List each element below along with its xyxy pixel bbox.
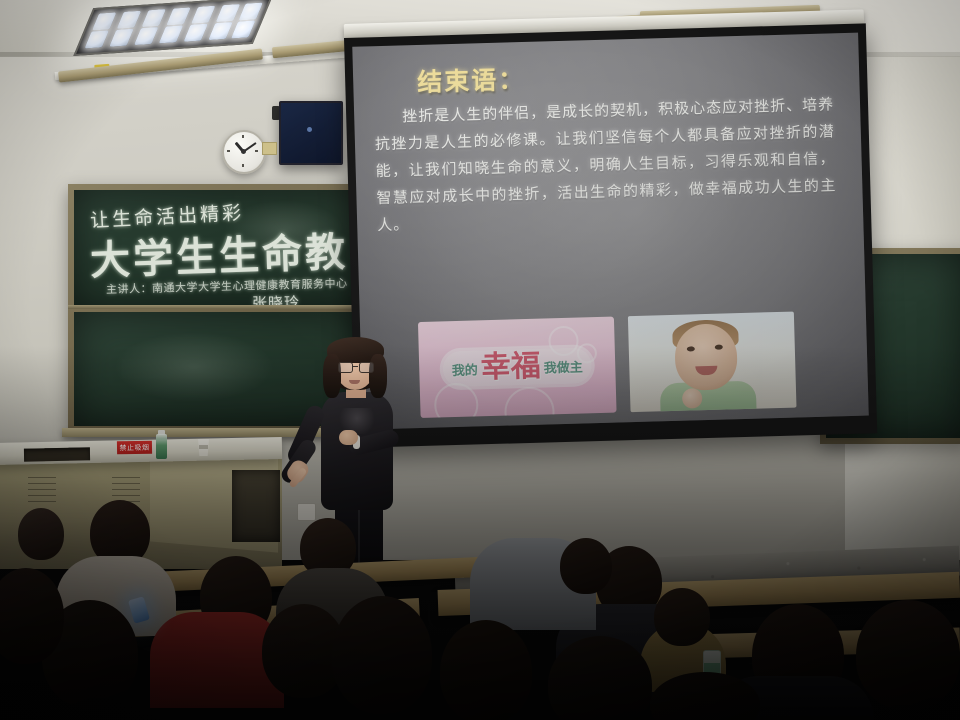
happiness-text-right: 我做主	[543, 356, 583, 376]
desk-cavity	[232, 470, 280, 542]
happiness-graphic: 我的 幸福 我做主	[418, 317, 617, 418]
wall-clock	[222, 130, 266, 174]
slide-body-text: 挫折是人生的伴侣，是成长的契机，积极心态应对挫折、培养抗挫力是人生的必修课。让我…	[374, 91, 838, 239]
blackboard-divider	[68, 305, 368, 309]
water-bottle-podium	[156, 430, 167, 459]
happiness-badge: 我的 幸福 我做主	[442, 347, 592, 387]
presenter-raised-hand	[284, 457, 311, 485]
pointing-finger-icon	[288, 467, 307, 489]
no-smoking-sign-label: 禁止吸烟	[117, 441, 152, 455]
projector-screen: 结束语： 挫折是人生的伴侣，是成长的契机，积极心态应对挫折、培养抗挫力是人生的必…	[344, 23, 877, 447]
happiness-text-big: 幸福	[480, 352, 541, 384]
audience-head	[654, 588, 710, 646]
slide-title: 结束语：	[417, 60, 526, 99]
audience-head	[856, 600, 960, 710]
projected-slide: 结束语： 挫折是人生的伴侣，是成长的契机，积极心态应对挫折、培养抗挫力是人生的必…	[352, 33, 868, 430]
audience-head	[0, 568, 64, 664]
audience-head	[332, 596, 432, 714]
wall-mounted-dark-panel	[279, 101, 343, 165]
wall-plate	[262, 142, 277, 155]
smiling-baby-photo	[628, 312, 797, 413]
slide-image-row: 我的 幸福 我做主	[418, 312, 797, 418]
blackboard-panel-top: 让生命活出精彩 大学生生命教 主讲人：南通大学大学生心理健康教育服务中心 张晓玲	[74, 190, 362, 308]
glasses-icon	[338, 362, 372, 371]
podium-open-slot	[24, 447, 90, 461]
lecture-hall-photo: 让生命活出精彩 大学生生命教 主讲人：南通大学大学生心理健康教育服务中心 张晓玲…	[0, 0, 960, 720]
presenter-lower-hand	[339, 430, 358, 445]
audience-head	[560, 538, 612, 594]
audience-head	[440, 620, 532, 720]
audience-head	[18, 508, 64, 560]
no-smoking-sign: 禁止吸烟	[117, 441, 152, 455]
happiness-text-left: 我的	[452, 359, 479, 379]
